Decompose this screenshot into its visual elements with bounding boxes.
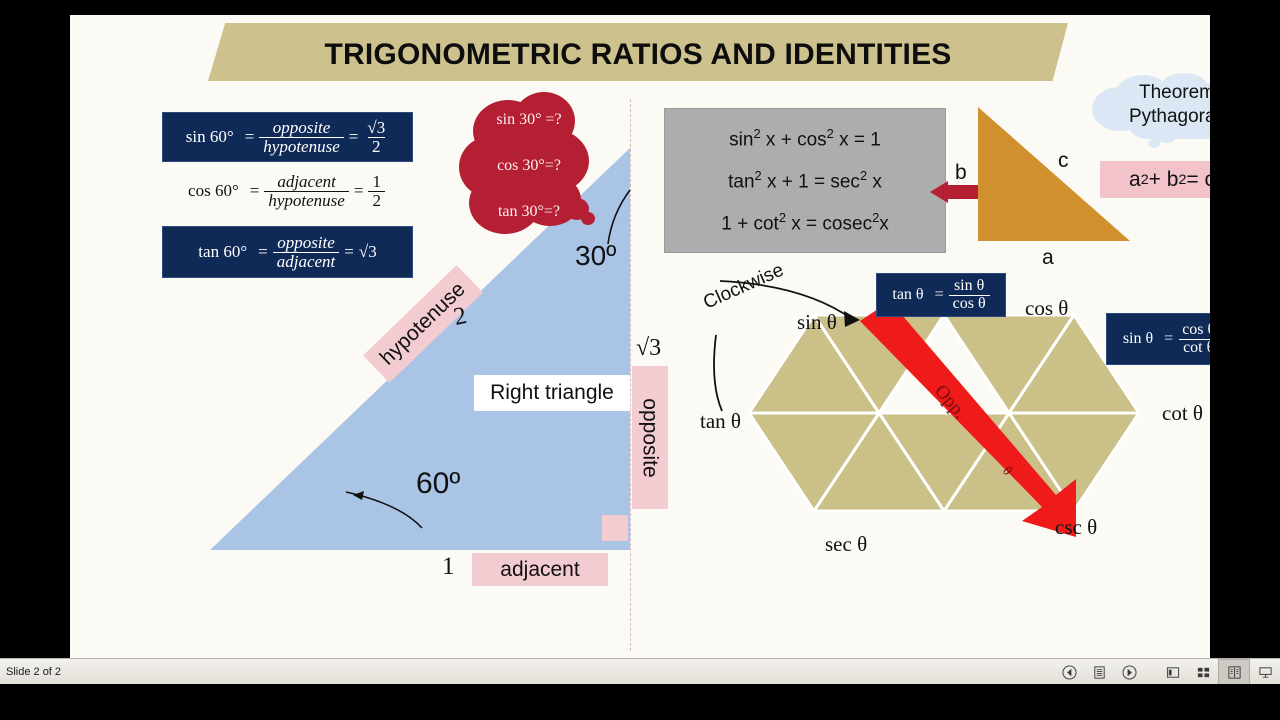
formula-cos-60-result-denominator: 2 xyxy=(368,191,385,210)
slide-counter: Slide 2 of 2 xyxy=(6,666,61,678)
formula-sin-60: sin 60° = opposite hypotenuse = √3 2 xyxy=(162,112,413,162)
formula-sin-60-result-denominator: 2 xyxy=(368,137,385,156)
formula-sin-60-lhs: sin 60° xyxy=(186,127,234,147)
hexagon-label-tan: tan θ xyxy=(700,409,741,434)
letterbox-right xyxy=(1210,0,1280,658)
letterbox-left xyxy=(0,0,70,658)
right-triangle-caption: Right triangle xyxy=(474,375,630,411)
hexagon-label-sec: sec θ xyxy=(825,532,867,557)
formula-tan-60-denominator: adjacent xyxy=(273,252,340,271)
formula-tan-theta-numerator: sin θ xyxy=(950,278,988,295)
slide-sorter-icon[interactable] xyxy=(1188,660,1218,684)
formula-sin-theta: sin θ = cos θ cot θ xyxy=(1106,313,1210,365)
letterbox-top xyxy=(0,0,1280,15)
formula-sin-theta-denominator: cot θ xyxy=(1179,339,1210,357)
formula-tan-theta: tan θ = sin θ cos θ xyxy=(876,273,1006,317)
formula-sin-theta-lhs: sin θ xyxy=(1123,330,1153,348)
formula-tan-theta-denominator: cos θ xyxy=(949,295,990,313)
formula-cos-60: cos 60° = adjacent hypotenuse = 1 2 xyxy=(162,165,411,217)
formula-sin-theta-numerator: cos θ xyxy=(1178,322,1210,339)
formula-tan-60: tan 60° = opposite adjacent = √3 xyxy=(162,226,413,278)
normal-view-icon[interactable] xyxy=(1158,660,1188,684)
angle-60-label: 60º xyxy=(416,467,460,501)
outline-view-icon[interactable] xyxy=(1084,660,1114,684)
label-opposite-text: opposite xyxy=(638,398,662,477)
formula-tan-60-numerator: opposite xyxy=(273,234,339,252)
thought-cloud-pythagoras-text: Theorem Pythagoras xyxy=(1086,81,1210,129)
pythagoras-leg-b-label: b xyxy=(955,161,967,185)
formula-tan-60-lhs: tan 60° xyxy=(198,242,247,262)
label-adjacent: adjacent xyxy=(472,553,608,586)
formula-cos-60-lhs: cos 60° xyxy=(188,181,239,201)
slide-canvas: TRIGONOMETRIC RATIOS AND IDENTITIES sin … xyxy=(70,15,1210,658)
formula-cos-60-denominator: hypotenuse xyxy=(264,191,348,210)
slideshow-icon[interactable] xyxy=(1250,660,1280,684)
pythagoras-cloud-line2: Pythagoras xyxy=(1129,105,1210,129)
identity-pythagorean: sin2 x + cos2 x = 1 xyxy=(729,126,881,151)
pythagoras-hypotenuse-c-label: c xyxy=(1058,149,1069,173)
previous-slide-icon[interactable] xyxy=(1054,660,1084,684)
pythagoras-equation: a2 + b2 = c2 xyxy=(1100,161,1210,198)
length-adjacent: 1 xyxy=(442,553,455,581)
formula-sin-60-numerator: opposite xyxy=(269,119,335,137)
formula-sin-60-denominator: hypotenuse xyxy=(259,137,343,156)
slide-divider-dashed-line xyxy=(630,99,631,651)
letterbox-bottom xyxy=(0,684,1280,720)
identities-box: sin2 x + cos2 x = 1 tan2 x + 1 = sec2 x … xyxy=(664,108,946,253)
right-angle-marker xyxy=(602,515,628,541)
formula-cos-60-result-numerator: 1 xyxy=(368,173,385,191)
formula-sin-60-result-numerator: √3 xyxy=(363,119,389,137)
hexagon-label-sin: sin θ xyxy=(797,310,837,335)
label-opposite: opposite xyxy=(632,366,668,509)
next-slide-icon[interactable] xyxy=(1114,660,1144,684)
cloud-line-cos30: cos 30°=? xyxy=(497,157,561,175)
formula-tan-60-result: √3 xyxy=(359,242,377,262)
hexagon-label-cos: cos θ xyxy=(1025,296,1068,321)
reading-view-icon[interactable] xyxy=(1218,659,1250,685)
cloud-line-tan30: tan 30°=? xyxy=(498,203,560,221)
thought-cloud-red-text: sin 30° =? cos 30°=? tan 30°=? xyxy=(459,111,599,221)
formula-cos-60-numerator: adjacent xyxy=(273,173,340,191)
status-bar-icon-group xyxy=(1054,659,1280,685)
screen: TRIGONOMETRIC RATIOS AND IDENTITIES sin … xyxy=(0,0,1280,720)
pythagoras-cloud-line1: Theorem xyxy=(1139,81,1210,105)
length-opposite: √3 xyxy=(636,335,661,362)
status-bar: Slide 2 of 2 xyxy=(0,658,1280,685)
page-title: TRIGONOMETRIC RATIOS AND IDENTITIES xyxy=(208,31,1068,79)
formula-tan-theta-lhs: tan θ xyxy=(892,286,923,304)
identity-cot-cosec: 1 + cot2 x = cosec2x xyxy=(721,210,889,235)
hexagon-label-csc: csc θ xyxy=(1055,515,1097,540)
cloud-line-sin30: sin 30° =? xyxy=(496,111,561,129)
identity-tan-sec: tan2 x + 1 = sec2 x xyxy=(728,168,882,193)
hexagon-label-cot: cot θ xyxy=(1162,401,1203,426)
